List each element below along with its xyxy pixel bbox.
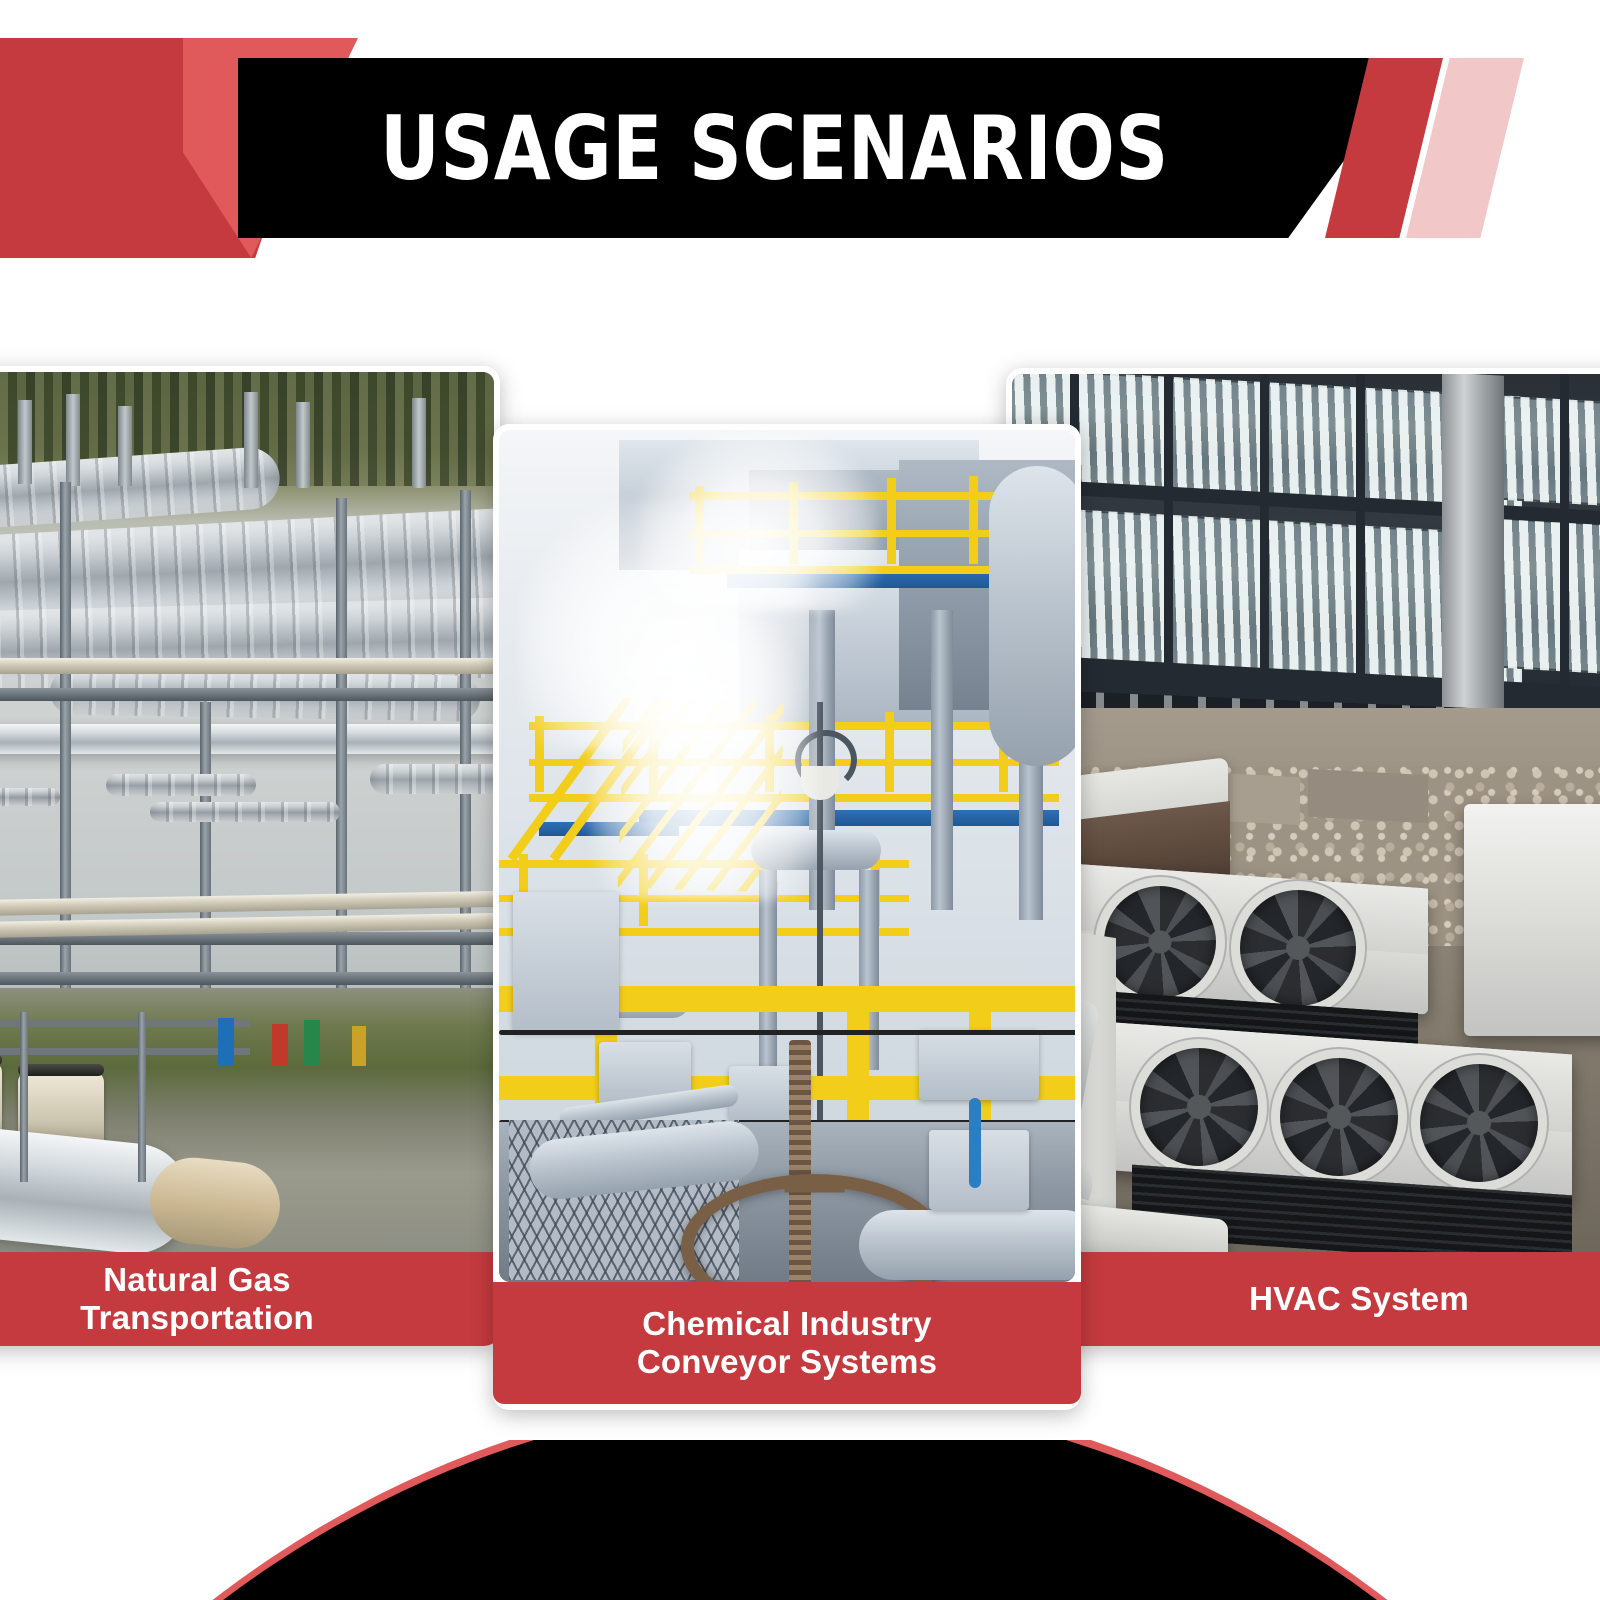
- scenario-card-natural-gas[interactable]: Natural Gas Transportation: [0, 366, 500, 1346]
- fan-icon: [1240, 890, 1356, 1006]
- scenario-photo-chemical-conveyor: [499, 430, 1075, 1282]
- scenario-photo-hvac: [1012, 374, 1600, 1252]
- scenario-label-chemical-conveyor: Chemical Industry Conveyor Systems: [493, 1282, 1081, 1404]
- page-header: USAGE SCENARIOS: [0, 0, 1600, 300]
- bottom-arc-black: [0, 1440, 1600, 1600]
- bottom-arc-decoration: [0, 1440, 1600, 1600]
- header-title-bar: USAGE SCENARIOS: [238, 58, 1418, 238]
- scenario-card-hvac[interactable]: HVAC System: [1006, 368, 1600, 1346]
- scenario-card-chemical-conveyor[interactable]: Chemical Industry Conveyor Systems: [493, 424, 1081, 1410]
- fan-icon: [1280, 1058, 1398, 1176]
- page-title: USAGE SCENARIOS: [380, 97, 1169, 200]
- fan-icon: [1104, 886, 1216, 998]
- fan-icon: [1420, 1064, 1538, 1182]
- scenario-photo-natural-gas: [0, 372, 494, 1252]
- scenario-label-natural-gas: Natural Gas Transportation: [0, 1252, 494, 1346]
- fan-icon: [1140, 1048, 1258, 1166]
- scenario-label-hvac: HVAC System: [1012, 1252, 1600, 1346]
